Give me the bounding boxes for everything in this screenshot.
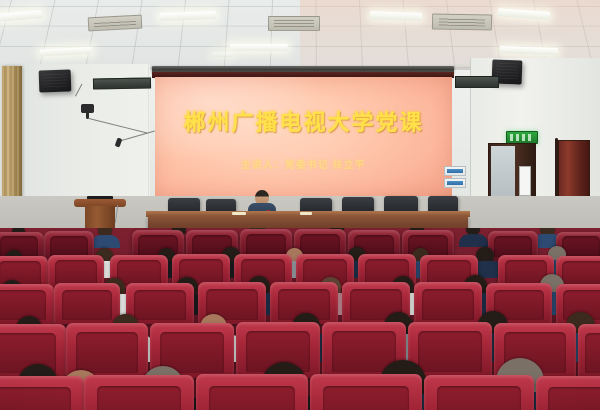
audience-shoulders	[459, 234, 488, 247]
ac-vent	[268, 16, 320, 31]
audience-shoulders	[91, 235, 120, 248]
seat[interactable]	[578, 324, 600, 378]
wall-speaker-left	[39, 69, 72, 92]
ac-vent	[432, 13, 492, 30]
audience-seating-area	[0, 228, 600, 410]
seat[interactable]	[414, 282, 482, 324]
seat[interactable]	[196, 374, 308, 410]
ac-vent	[88, 15, 143, 32]
ceiling-light-panel	[212, 52, 232, 57]
wall-trim-board-right	[455, 76, 499, 88]
seat[interactable]	[0, 376, 84, 410]
table-paper	[300, 212, 312, 215]
seat[interactable]	[84, 375, 194, 410]
table-paper	[232, 212, 246, 215]
wall-trim-board-left	[93, 77, 151, 89]
seat[interactable]	[310, 374, 422, 410]
wall-plaque-lower	[444, 178, 466, 188]
seat[interactable]	[424, 375, 534, 410]
slide-title: 郴州广播电视大学党课	[155, 105, 452, 137]
podium-microphone-icon	[115, 205, 118, 223]
seat[interactable]	[536, 376, 600, 410]
slide-subtitle: 主讲人：党委书记 扶立平	[155, 157, 452, 171]
lecture-hall-photo: 郴州广播电视大学党课 主讲人：党委书记 扶立平	[0, 0, 600, 410]
door-notice-paper	[519, 166, 531, 196]
ceiling-light-panel	[230, 44, 288, 51]
seat[interactable]	[54, 283, 120, 324]
seat[interactable]	[126, 283, 194, 324]
wall-plaque-upper	[444, 166, 466, 176]
projection-screen: 郴州广播电视大学党课 主讲人：党委书记 扶立平	[155, 77, 452, 197]
